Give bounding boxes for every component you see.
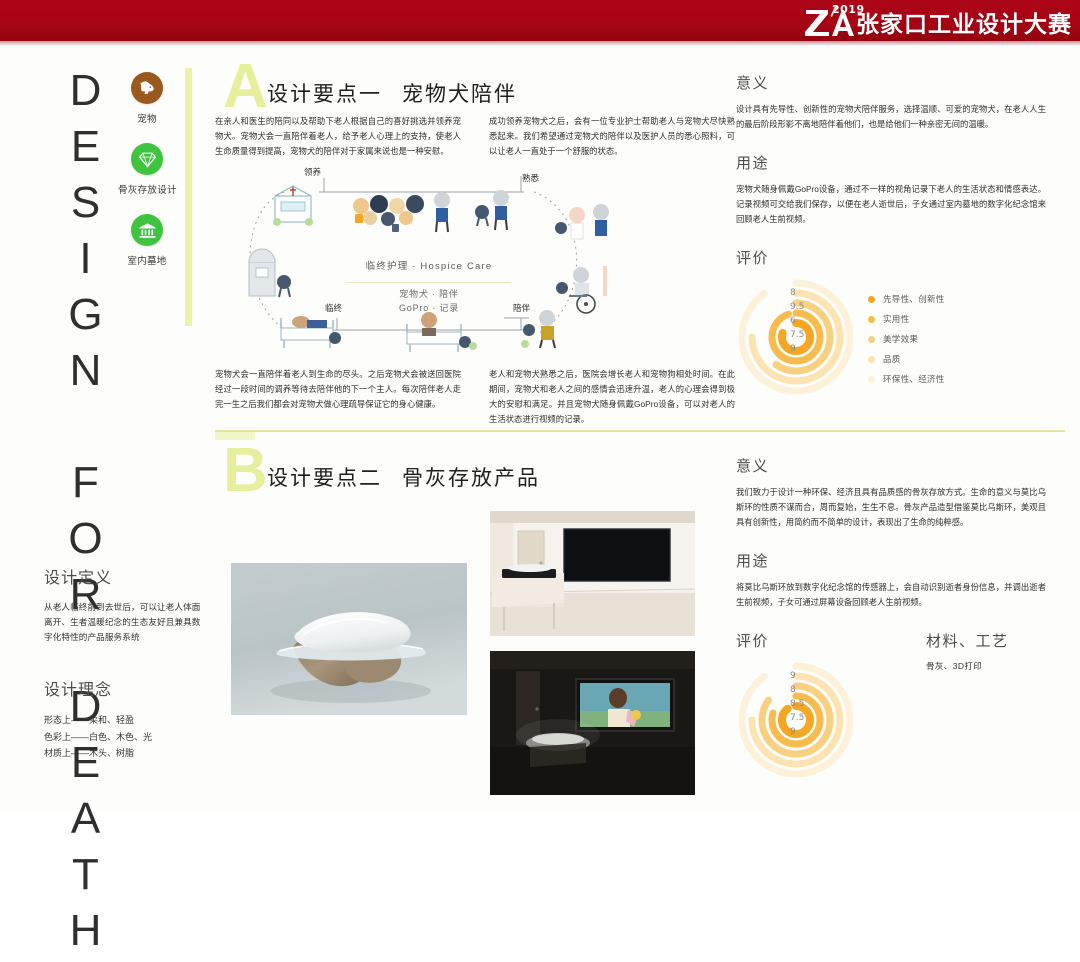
- legend-item: 环保性、经济性: [868, 373, 945, 385]
- radial-value: 7.5: [790, 329, 804, 343]
- design-concept-lines: 形态上——柔和、轻盈 色彩上——白色、木色、光 材质上——木头、树脂: [44, 712, 204, 762]
- design-concept-block: 设计理念 形态上——柔和、轻盈 色彩上——白色、木色、光 材质上——木头、树脂: [44, 676, 204, 762]
- material-body: 骨灰、3D打印: [926, 660, 1056, 672]
- meaning-body-b: 我们致力于设计一种环保、经济且具有品质感的骨灰存放方式。生命的意义与莫比乌斯环的…: [736, 485, 1046, 530]
- design-concept-title-text: 设计理念: [44, 682, 112, 699]
- section-b-title: 设计要点二骨灰存放产品: [267, 462, 540, 492]
- category-icon-list: 宠物 骨灰存放设计 室内墓地: [118, 72, 176, 285]
- seated-elder-icon: [521, 310, 555, 348]
- radial-value: 8.5: [790, 698, 804, 712]
- legend-item: 美学效果: [868, 333, 945, 345]
- section-a-outro-right: 老人和宠物犬熟悉之后，医院会增长老人和宠物狗相处时间。在此期间，宠物犬和老人之间…: [489, 367, 735, 426]
- section-a-outro: 宠物犬会一直陪伴着老人到生命的尽头。之后宠物犬会被送回医院经过一段时间的调养等待…: [215, 367, 735, 426]
- legend-item: 品质: [868, 353, 945, 365]
- radial-chart-a: 8 9.5 6 7.5 9: [736, 277, 856, 397]
- section-b-letter: B: [223, 440, 268, 502]
- category-label: 宠物: [118, 111, 176, 125]
- logo-text: 张家口工业设计大赛: [856, 13, 1072, 36]
- legend-swatch-icon: [868, 376, 875, 383]
- page-title: DESIGN FOR DEATH: [44, 66, 106, 962]
- radial-chart-b-values: 9 8 8.5 7.5 9: [790, 670, 804, 740]
- design-concept-line: 色彩上——白色、木色、光: [44, 729, 204, 746]
- usage-body-b: 将莫比乌斯环放到数字化纪念馆的传感器上，会自动识别逝者身份信息，并调出逝者生前视…: [736, 580, 1046, 610]
- zjk-monogram-icon: 2019: [802, 4, 854, 38]
- design-concept-line: 材质上——木头、树脂: [44, 745, 204, 762]
- diamond-icon: [131, 143, 163, 175]
- header-shadow: [0, 41, 1080, 46]
- hospital-icon: [273, 186, 313, 226]
- usage-title-a: 用途: [736, 152, 793, 173]
- memorial-room-screen-on-photo: [490, 651, 695, 795]
- design-concept-line: 形态上——柔和、轻盈: [44, 712, 204, 729]
- rating-chart-b: 9 8 8.5 7.5 9: [736, 660, 1046, 780]
- usage-title-b: 用途: [736, 550, 793, 571]
- design-definition-body: 从老人临终前到去世后，可以让老人体面离开、生者温暖纪念的生态友好且兼具数字化特性…: [44, 600, 204, 644]
- radial-value: 9: [790, 343, 804, 357]
- radial-value: 9.5: [790, 301, 804, 315]
- radial-chart-b: 9 8 8.5 7.5 9: [736, 660, 856, 780]
- memorial-room-screen-off-photo: [490, 511, 695, 636]
- section-b-sidebar: 意义 我们致力于设计一种环保、经济且具有品质感的骨灰存放方式。生命的意义与莫比乌…: [736, 455, 1046, 780]
- usage-body-a: 宠物犬随身佩戴GoPro设备，通过不一样的视角记录下老人的生活状态和情感表达。记…: [736, 182, 1046, 227]
- category-item-ash-storage[interactable]: 骨灰存放设计: [118, 143, 176, 196]
- legend-label: 美学效果: [883, 333, 918, 345]
- elderly-person-icon: [434, 192, 450, 232]
- logo-year: 2019: [832, 3, 865, 16]
- flow-center-sub-1: 宠物犬 · 陪伴: [329, 288, 529, 302]
- category-item-pet[interactable]: 宠物: [118, 72, 176, 125]
- tombstone-icon: [249, 249, 291, 297]
- rail-accent-bar: [185, 68, 192, 326]
- section-a-letter: A: [223, 56, 268, 118]
- section-a-title-left: 设计要点一: [267, 83, 382, 106]
- section-a: A 设计要点一宠物犬陪伴 在亲人和医生的陪同以及帮助下老人根据自己的喜好挑选并领…: [215, 62, 735, 426]
- dog-group-icon: [353, 195, 424, 232]
- radial-chart-a-legend: 先导性、创新性 实用性 美学效果 品质 环保性、经济性: [868, 277, 945, 393]
- legend-label: 品质: [883, 353, 901, 365]
- flow-label-familiar: 熟悉: [521, 172, 548, 185]
- design-definition-title: 设计定义: [44, 564, 134, 590]
- legend-swatch-icon: [868, 316, 875, 323]
- design-definition-block: 设计定义 从老人临终前到去世后，可以让老人体面离开、生者温暖纪念的生态友好且兼具…: [44, 564, 204, 644]
- meaning-title-b: 意义: [736, 455, 793, 476]
- wheelchair-elder-icon: [556, 266, 607, 313]
- section-a-intro: 在亲人和医生的陪同以及帮助下老人根据自己的喜好挑选并领养宠物犬。宠物犬会一直陪伴…: [215, 114, 735, 158]
- legend-item: 先导性、创新性: [868, 293, 945, 305]
- temple-building-icon: [131, 214, 163, 246]
- flow-center-caption: 临终护理 · Hospice Care 宠物犬 · 陪伴 GoPro · 记录: [329, 258, 529, 315]
- section-b: B 设计要点二骨灰存放产品: [215, 446, 735, 498]
- flow-label-adopt: 领养: [303, 166, 330, 179]
- meaning-body-a: 设计具有先导性、创新性的宠物犬陪伴服务，选择温顺、可爱的宠物犬，在老人人生的最后…: [736, 102, 1046, 132]
- section-a-outro-left: 宠物犬会一直陪伴着老人到生命的尽头。之后宠物犬会被送回医院经过一段时间的调养等待…: [215, 367, 461, 411]
- section-a-header: A 设计要点一宠物犬陪伴: [215, 62, 735, 114]
- section-divider: [215, 430, 1065, 432]
- radial-value: 8: [790, 287, 804, 301]
- legend-label: 先导性、创新性: [883, 293, 945, 305]
- hospital-bed-center-icon: [407, 312, 477, 352]
- radial-value: 9: [790, 670, 804, 684]
- section-a-intro-right: 成功领养宠物犬之后，会有一位专业护士帮助老人与宠物犬尽快熟悉起来。我们希望通过宠…: [489, 114, 735, 158]
- legend-swatch-icon: [868, 296, 875, 303]
- category-item-indoor-cemetery[interactable]: 室内墓地: [118, 214, 176, 267]
- material-title: 材料、工艺: [926, 630, 1033, 651]
- dog-icon: [131, 72, 163, 104]
- legend-swatch-icon: [868, 336, 875, 343]
- legend-swatch-icon: [868, 356, 875, 363]
- material-block: 材料、工艺 骨灰、3D打印: [926, 630, 1056, 672]
- section-b-title-left: 设计要点二: [267, 467, 382, 490]
- rating-title-b: 评价: [736, 630, 793, 651]
- section-a-title-right: 宠物犬陪伴: [402, 83, 517, 106]
- flow-center-rule: [347, 282, 511, 283]
- rating-title-a: 评价: [736, 247, 793, 268]
- hospice-care-flow-diagram: 领养 熟悉 陪伴 临终 临终护理 · Hospice Care 宠物犬 · 陪伴…: [229, 170, 629, 355]
- rating-chart-a: 8 9.5 6 7.5 9 先导性、创新性 实用性 美学效果 品质: [736, 277, 1046, 397]
- radial-value: 6: [790, 315, 804, 329]
- section-a-sidebar: 意义 设计具有先导性、创新性的宠物犬陪伴服务，选择温顺、可爱的宠物犬，在老人人生…: [736, 72, 1046, 397]
- section-b-title-right: 骨灰存放产品: [402, 467, 540, 490]
- mobius-ash-product-photo: [231, 563, 467, 715]
- radial-value: 8: [790, 684, 804, 698]
- person-with-dog-icon: [475, 190, 509, 230]
- legend-label: 实用性: [883, 313, 909, 325]
- hospital-bed-icon: [281, 316, 341, 348]
- competition-logo: 2019 张家口工业设计大赛: [802, 3, 1072, 38]
- category-label: 骨灰存放设计: [118, 182, 176, 196]
- radial-chart-a-values: 8 9.5 6 7.5 9: [790, 287, 804, 357]
- design-definition-title-text: 设计定义: [44, 570, 112, 587]
- meaning-title-a: 意义: [736, 72, 793, 93]
- flow-center-title: 临终护理 · Hospice Care: [329, 258, 529, 272]
- legend-label: 环保性、经济性: [883, 373, 945, 385]
- category-label: 室内墓地: [118, 253, 176, 267]
- section-b-header: B 设计要点二骨灰存放产品: [215, 446, 735, 498]
- rating-and-material-row: 评价 材料、工艺 骨灰、3D打印 9 8 8.5: [736, 630, 1046, 780]
- flow-center-sub-2: GoPro · 记录: [329, 302, 529, 316]
- legend-item: 实用性: [868, 313, 945, 325]
- radial-value: 7.5: [790, 712, 804, 726]
- section-a-title: 设计要点一宠物犬陪伴: [267, 78, 517, 108]
- nurse-and-elder-icon: [555, 204, 609, 239]
- radial-value: 9: [790, 726, 804, 740]
- design-concept-title: 设计理念: [44, 676, 134, 702]
